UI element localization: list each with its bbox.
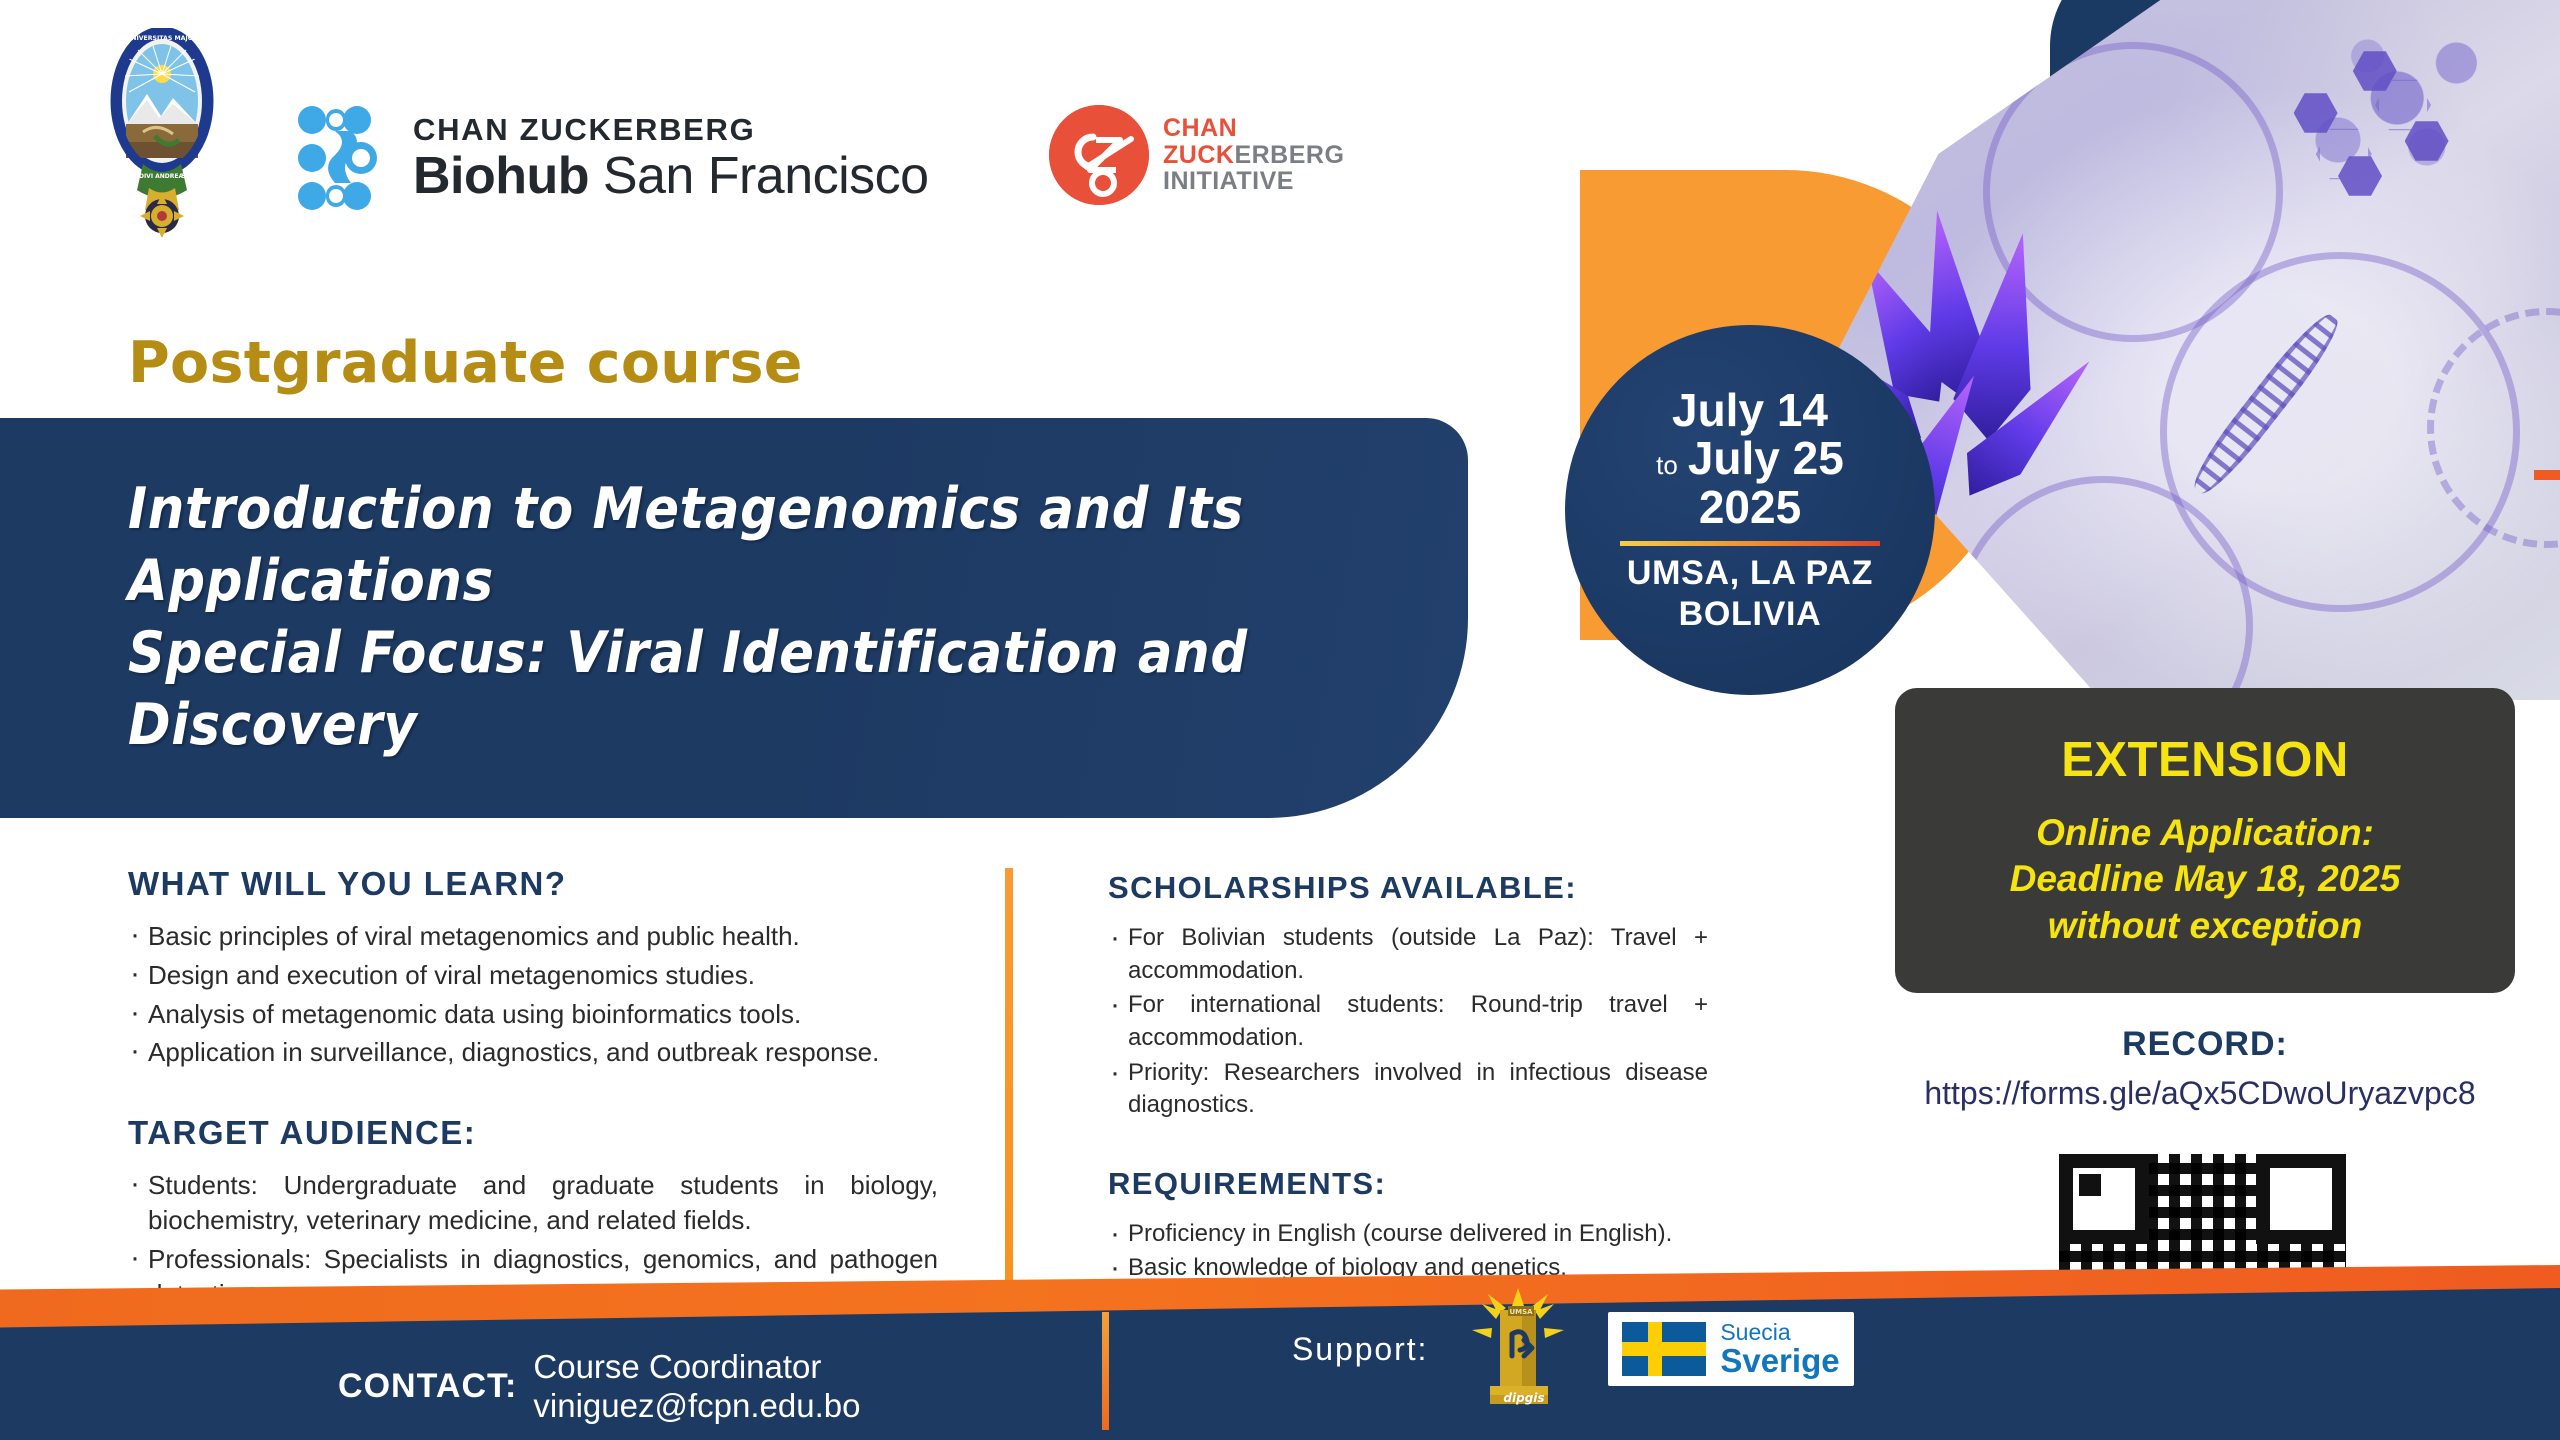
cz-biohub-logo: CHAN ZUCKERBERG Biohub San Francisco bbox=[295, 105, 928, 211]
biohub-mark-icon bbox=[295, 105, 387, 211]
eyebrow-postgraduate-course: Postgraduate course bbox=[128, 330, 803, 396]
footer-divider bbox=[1102, 1312, 1109, 1430]
czi-line-1: CHAN bbox=[1163, 115, 1344, 142]
biohub-logo-bold: Biohub bbox=[413, 147, 589, 205]
dipgis-label: dipgis bbox=[1504, 1391, 1545, 1405]
czi-line-3: INITIATIVE bbox=[1163, 168, 1344, 195]
page-title: Introduction to Metagenomics and Its App… bbox=[0, 474, 1468, 761]
right-content-column: SCHOLARSHIPS AVAILABLE: For Bolivian stu… bbox=[1108, 870, 1708, 1287]
date-year: 2025 bbox=[1699, 483, 1801, 532]
sweden-label-sv: Sverige bbox=[1720, 1344, 1839, 1379]
hero-image-texture bbox=[1820, 0, 2560, 700]
list-item: Design and execution of viral metagenomi… bbox=[128, 958, 938, 993]
poster-root: UNIVERSITAS MAJOR DIVI ANDREÆ bbox=[0, 0, 2560, 1440]
sweden-flag-icon bbox=[1622, 1322, 1706, 1376]
svg-text:UNIVERSITAS MAJOR: UNIVERSITAS MAJOR bbox=[126, 35, 198, 42]
venue-line-2: BOLIVIA bbox=[1627, 594, 1873, 635]
czi-monogram-icon bbox=[1049, 105, 1149, 205]
list-item: For international students: Round-trip t… bbox=[1108, 989, 1708, 1054]
support-label: Support: bbox=[1292, 1331, 1428, 1368]
support-block: Support: UMSA dipgis Suecia Sverige bbox=[1292, 1286, 1854, 1412]
extension-title: EXTENSION bbox=[2061, 732, 2349, 788]
scholarships-heading: SCHOLARSHIPS AVAILABLE: bbox=[1108, 870, 1708, 906]
date-start: July 14 bbox=[1672, 386, 1828, 435]
record-label: RECORD: bbox=[1895, 1025, 2515, 1064]
czi-logo: CHAN ZUCKERBERG INITIATIVE bbox=[1035, 90, 1385, 220]
svg-text:DIVI ANDREÆ: DIVI ANDREÆ bbox=[139, 173, 186, 180]
list-item: For Bolivian students (outside La Paz): … bbox=[1108, 922, 1708, 987]
sweden-label-es: Suecia bbox=[1720, 1320, 1839, 1344]
extension-body: Online Application: Deadline May 18, 202… bbox=[2010, 810, 2401, 950]
list-item: Students: Undergraduate and graduate stu… bbox=[128, 1168, 938, 1238]
list-item: Priority: Researchers involved in infect… bbox=[1108, 1057, 1708, 1122]
date-divider bbox=[1620, 541, 1880, 546]
scholarships-list: For Bolivian students (outside La Paz): … bbox=[1108, 922, 1708, 1122]
list-item: Basic principles of viral metagenomics a… bbox=[128, 919, 938, 954]
biohub-logo-light: San Francisco bbox=[589, 147, 929, 205]
contact-block: CONTACT: Course Coordinator viniguez@fcp… bbox=[338, 1347, 860, 1426]
date-end: July 25 bbox=[1688, 434, 1844, 483]
decor-orange-edge-bar bbox=[2534, 470, 2560, 480]
contact-value[interactable]: Course Coordinator viniguez@fcpn.edu.bo bbox=[533, 1347, 860, 1426]
list-item: Analysis of metagenomic data using bioin… bbox=[128, 997, 938, 1032]
umsa-seal-logo: UNIVERSITAS MAJOR DIVI ANDREÆ bbox=[103, 28, 221, 243]
list-item: Application in surveillance, diagnostics… bbox=[128, 1035, 938, 1070]
logo-bar: UNIVERSITAS MAJOR DIVI ANDREÆ bbox=[0, 0, 1450, 290]
dipgis-top-label: UMSA bbox=[1510, 1308, 1534, 1316]
title-banner: Introduction to Metagenomics and Its App… bbox=[0, 418, 1468, 818]
date-badge: July 14 to July 25 2025 UMSA, LA PAZ BOL… bbox=[1565, 325, 1935, 695]
list-item: Proficiency in English (course delivered… bbox=[1108, 1218, 1708, 1251]
czi-line-2a: ZUCK bbox=[1163, 141, 1234, 169]
learn-list: Basic principles of viral metagenomics a… bbox=[128, 919, 938, 1070]
column-divider bbox=[1005, 868, 1013, 1288]
left-content-column: WHAT WILL YOU LEARN? Basic principles of… bbox=[128, 865, 938, 1316]
audience-heading: TARGET AUDIENCE: bbox=[128, 1114, 938, 1152]
contact-label: CONTACT: bbox=[338, 1367, 517, 1406]
czi-line-2b: ERBERG bbox=[1234, 141, 1344, 169]
hexagon-molecule-icon bbox=[2294, 91, 2338, 135]
sweden-support-logo: Suecia Sverige bbox=[1608, 1312, 1853, 1387]
learn-heading: WHAT WILL YOU LEARN? bbox=[128, 865, 938, 903]
requirements-heading: REQUIREMENTS: bbox=[1108, 1166, 1708, 1202]
dipgis-logo: UMSA dipgis bbox=[1468, 1286, 1568, 1412]
venue-line-1: UMSA, LA PAZ bbox=[1627, 553, 1873, 594]
extension-notice-box: EXTENSION Online Application: Deadline M… bbox=[1895, 688, 2515, 993]
record-url-link[interactable]: https://forms.gle/aQx5CDwoUryazvpc8 bbox=[1840, 1075, 2560, 1112]
hero-science-image bbox=[1820, 0, 2560, 700]
date-to-label: to bbox=[1656, 452, 1678, 480]
biohub-logo-top: CHAN ZUCKERBERG bbox=[413, 114, 928, 145]
